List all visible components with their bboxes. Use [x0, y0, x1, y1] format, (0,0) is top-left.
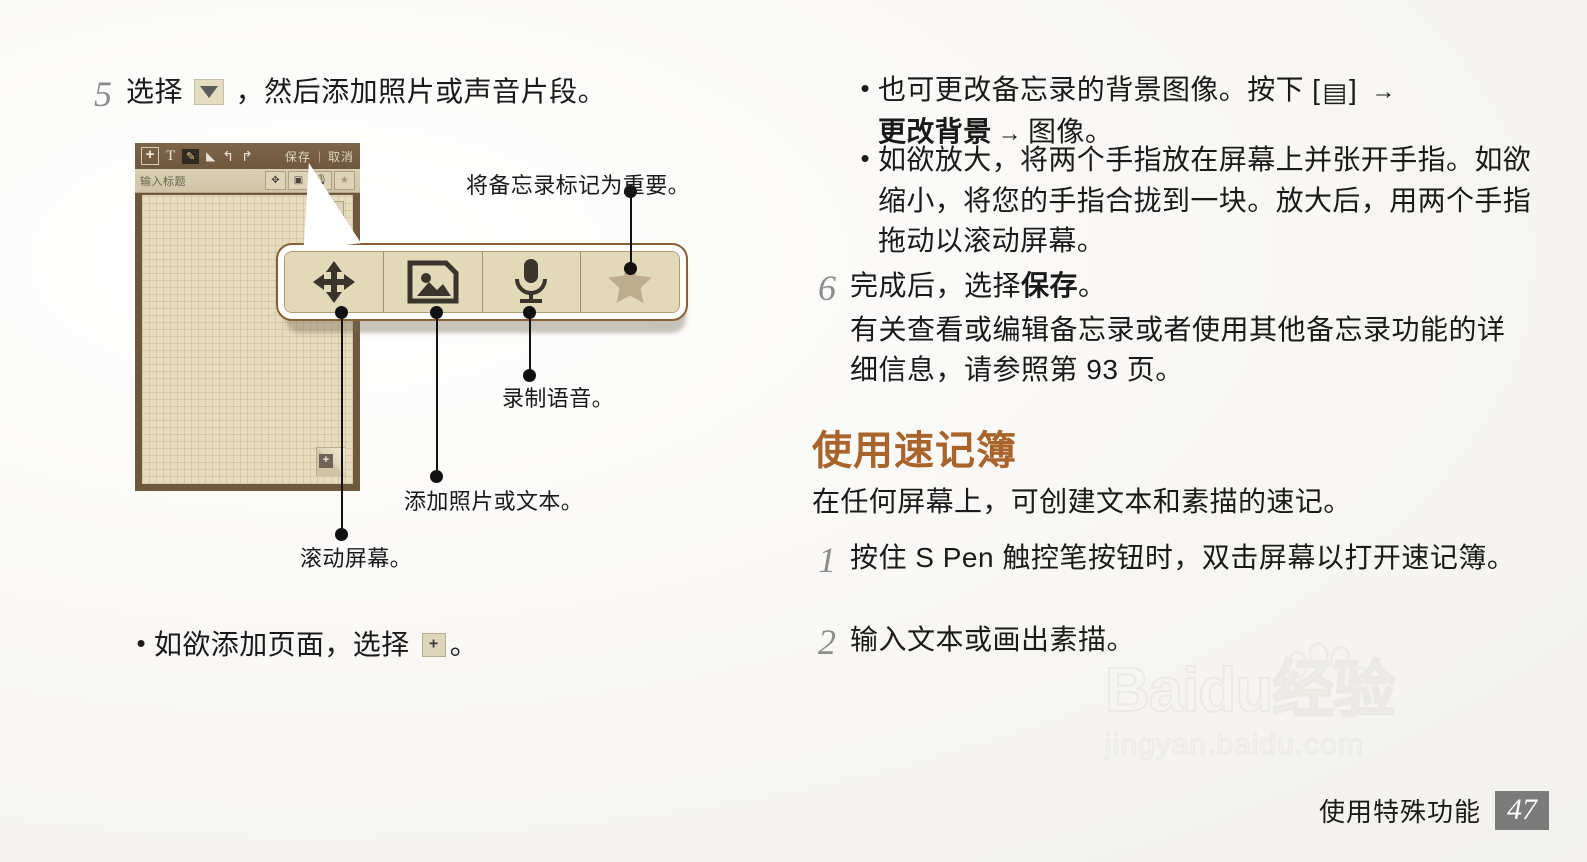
leader-dot-image-top — [430, 306, 443, 319]
arrow-1: → — [1371, 75, 1395, 110]
section-heading: 使用速记簿 — [812, 418, 1017, 476]
undo-icon: ↰ — [222, 149, 234, 163]
step5-text-before: 选择 — [126, 76, 183, 107]
callout-cell-microphone — [483, 252, 582, 312]
page-footer: 使用特殊功能 47 — [1319, 791, 1549, 830]
bullet-text-before: 如欲添加页面，选择 — [154, 629, 410, 660]
step6-text-b: 。 — [1078, 270, 1107, 301]
step6-note: 有关查看或编辑备忘录或者使用其他备忘录功能的详细信息，请参照第 93 页。 — [850, 310, 1514, 390]
bullet-text: 如欲放大，将两个手指放在屏幕上并张开手指。如欲缩小，将您的手指合拢到一块。放大后… — [878, 140, 1552, 262]
step-5: 5 选择 ，然后添加照片或声音片段。 — [80, 72, 720, 112]
move-icon: ✥ — [265, 171, 286, 190]
step6-bold: 保存 — [1021, 270, 1078, 301]
pen-icon: ✎ — [182, 149, 199, 164]
step-number: 5 — [80, 76, 126, 112]
step6-text-a: 完成后，选择 — [850, 270, 1021, 301]
callout-cell-image — [384, 252, 483, 312]
right-column: • 也可更改备忘录的背景图像。按下 [▤] → 更改背景→图像。 • 如欲放大，… — [790, 0, 1587, 862]
caption-star: 将备忘录标记为重要。 — [466, 168, 690, 200]
leader-dot-move-bottom — [335, 528, 348, 541]
step-text: 完成后，选择保存。 有关查看或编辑备忘录或者使用其他备忘录功能的详细信息，请参照… — [850, 266, 1514, 389]
title-placeholder: 输入标题 — [140, 173, 186, 189]
eraser-icon: ◣ — [206, 150, 215, 162]
leader-line-mic — [529, 312, 531, 374]
dropdown-triangle-icon — [194, 79, 224, 105]
redo-icon: ↱ — [241, 149, 253, 163]
plus-icon: + — [141, 147, 159, 165]
bullet-add-page: • 如欲添加页面，选择 。 — [128, 625, 728, 666]
manual-page: 5 选择 ，然后添加照片或声音片段。 + T ✎ ◣ ↰ ↱ 保存 | 取消 — [0, 0, 1587, 862]
step-number: 6 — [804, 270, 850, 306]
bullet-marker: • — [852, 70, 878, 108]
device-save-label: 保存 — [285, 148, 311, 165]
menu-key-icon: ▤ — [1322, 74, 1347, 112]
step5-text-after: ，然后添加照片或声音片段。 — [236, 76, 607, 107]
bullet-marker: • — [128, 625, 154, 663]
caption-image: 添加照片或文本。 — [404, 484, 583, 516]
leader-line-move — [341, 312, 343, 534]
add-page-icon — [422, 633, 446, 657]
callout-cell-move — [285, 252, 384, 312]
step-number: 2 — [804, 624, 850, 660]
microphone-icon — [511, 257, 551, 307]
step-text: 输入文本或画出素描。 — [850, 620, 1524, 660]
bullet-marker: • — [852, 140, 878, 178]
bullet1-text-a: 也可更改备忘录的背景图像。按下 [ — [878, 74, 1320, 105]
leader-line-image — [436, 312, 438, 476]
step-6: 6 完成后，选择保存。 有关查看或编辑备忘录或者使用其他备忘录功能的详细信息，请… — [804, 266, 1514, 389]
leader-dot-image-bottom — [430, 470, 443, 483]
bullet1-text-b: ] — [1349, 74, 1365, 105]
page-number: 47 — [1495, 791, 1549, 830]
leader-dot-mic-top — [523, 306, 536, 319]
step-number: 1 — [804, 542, 850, 578]
footer-section-label: 使用特殊功能 — [1319, 792, 1481, 829]
bullet-text-after: 。 — [450, 629, 478, 660]
section-lead: 在任何屏幕上，可创建文本和素描的速记。 — [812, 482, 1532, 523]
leader-dot-star-bottom — [624, 262, 637, 275]
left-column: 5 选择 ，然后添加照片或声音片段。 + T ✎ ◣ ↰ ↱ 保存 | 取消 — [0, 0, 780, 862]
bullet-zoom-gesture: • 如欲放大，将两个手指放在屏幕上并张开手指。如欲缩小，将您的手指合拢到一块。放… — [852, 140, 1552, 262]
callout-pointer — [293, 158, 361, 250]
leader-line-star — [630, 190, 632, 268]
step-text: 选择 ，然后添加照片或声音片段。 — [126, 72, 720, 112]
add-page-badge: + — [319, 454, 333, 468]
step-text: 按住 S Pen 触控笔按钮时，双击屏幕以打开速记簿。 — [850, 538, 1524, 578]
section-step-2: 2 输入文本或画出素描。 — [804, 620, 1524, 660]
leader-dot-move-top — [335, 306, 348, 319]
caption-microphone: 录制语音。 — [502, 381, 614, 413]
caption-move: 滚动屏幕。 — [300, 541, 412, 573]
section-step-1: 1 按住 S Pen 触控笔按钮时，双击屏幕以打开速记簿。 — [804, 538, 1524, 578]
text-icon: T — [166, 149, 175, 164]
bullet-text: 如欲添加页面，选择 。 — [154, 625, 728, 666]
move-icon — [311, 259, 357, 305]
image-icon — [407, 260, 459, 304]
